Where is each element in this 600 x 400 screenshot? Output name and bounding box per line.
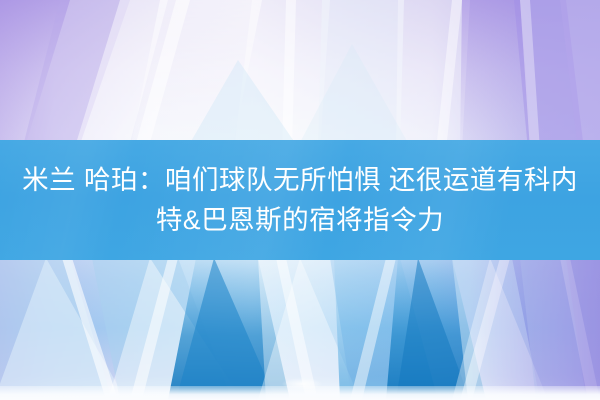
headline-banner: 米兰 哈珀：咱们球队无所怕惧 还很运道有科内 特&巴恩斯的宿将指令力 xyxy=(0,140,600,260)
headline-line-1: 米兰 哈珀：咱们球队无所怕惧 还很运道有科内 xyxy=(22,160,578,200)
facets-upper xyxy=(0,0,600,150)
bottom-fade-strip xyxy=(0,386,600,400)
thumbnail-image: 米兰 哈珀：咱们球队无所怕惧 还很运道有科内 特&巴恩斯的宿将指令力 xyxy=(0,0,600,400)
headline-line-2: 特&巴恩斯的宿将指令力 xyxy=(156,200,444,240)
